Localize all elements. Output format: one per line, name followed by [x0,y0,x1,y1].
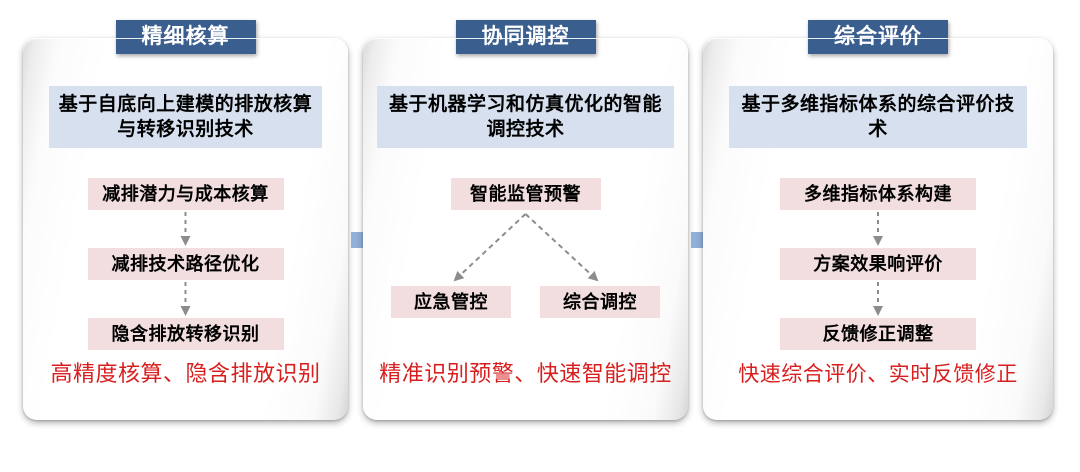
panel-summary: 精准识别预警、快速智能调控 [363,356,688,388]
flow-branch: 智能监管预警 应急管控 综合调控 [363,178,688,383]
panel-header-tab: 精细核算 [116,20,256,54]
panel-subtitle: 基于机器学习和仿真优化的智能调控技术 [377,86,674,148]
panel-fine-accounting: 精细核算 基于自底向上建模的排放核算与转移识别技术 减排潜力与成本核算 减排技术… [23,38,348,420]
panel-subtitle: 基于自底向上建模的排放核算与转移识别技术 [49,86,322,148]
panel-comprehensive-evaluation: 综合评价 基于多维指标体系的综合评价技术 多维指标体系构建 方案效果响评价 反馈… [703,38,1053,420]
panel-header-tab: 综合评价 [808,20,948,54]
panel-collaborative-control: 协同调控 基于机器学习和仿真优化的智能调控技术 智能监管预警 应急管控 综合调控… [363,38,688,420]
diagram-canvas: 精细核算 基于自底向上建模的排放核算与转移识别技术 减排潜力与成本核算 减排技术… [0,0,1080,472]
process-box-step-3: 反馈修正调整 [780,318,976,350]
process-box-step-3: 综合调控 [540,286,660,318]
connector-top-to-left [455,214,526,280]
panel-subtitle: 基于多维指标体系的综合评价技术 [729,86,1027,148]
process-box-step-2: 应急管控 [391,286,511,318]
panel-summary: 高精度核算、隐含排放识别 [23,356,348,388]
process-box-step-1: 减排潜力与成本核算 [88,178,284,210]
panel-summary: 快速综合评价、实时反馈修正 [703,358,1053,388]
process-box-step-2: 减排技术路径优化 [88,248,284,280]
process-box-step-1: 多维指标体系构建 [780,178,976,210]
flow-chain: 多维指标体系构建 方案效果响评价 反馈修正调整 [703,178,1053,383]
panel-header-tab: 协同调控 [456,20,596,54]
process-box-step-3: 隐含排放转移识别 [88,318,284,350]
flow-chain: 减排潜力与成本核算 减排技术路径优化 隐含排放转移识别 [23,178,348,383]
process-box-step-2: 方案效果响评价 [780,248,976,280]
connector-top-to-right [526,214,598,280]
process-box-step-1: 智能监管预警 [451,178,601,210]
